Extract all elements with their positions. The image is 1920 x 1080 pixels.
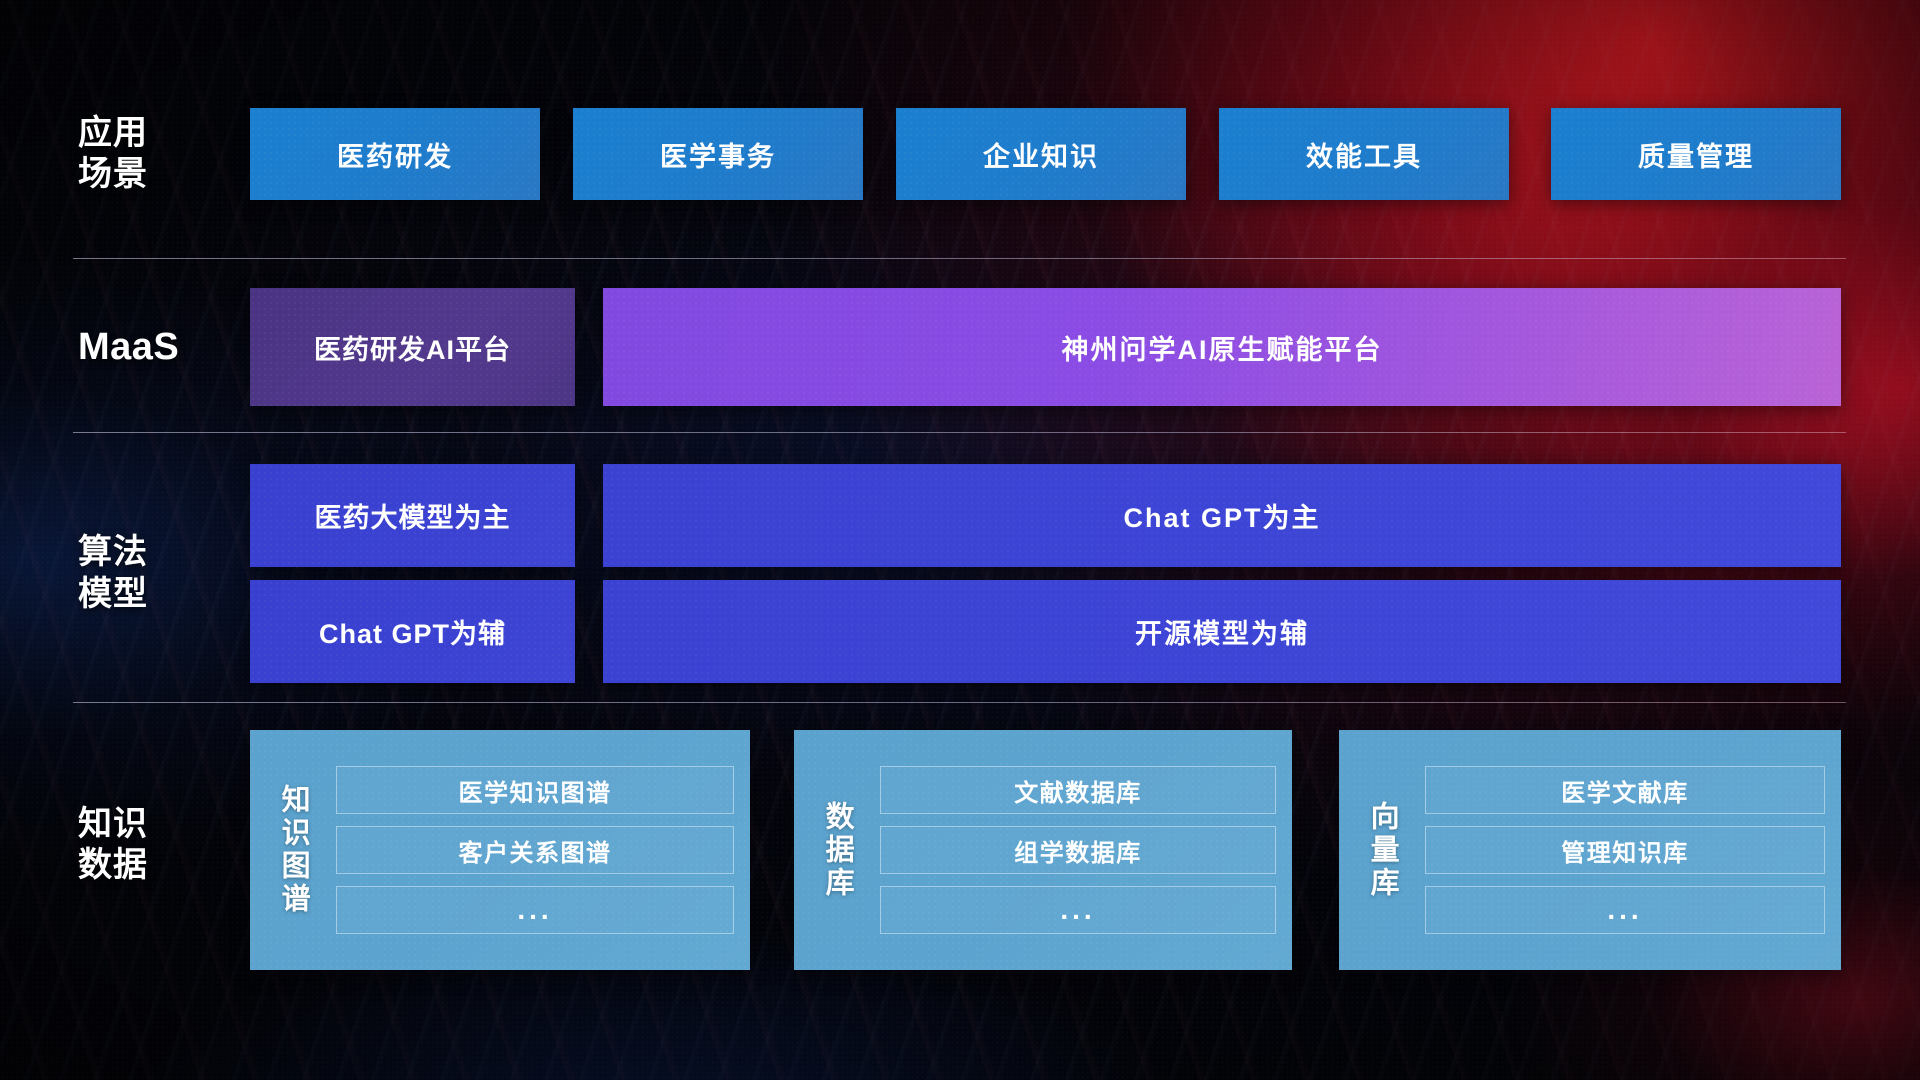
knowledge-group-1-title: 知识图谱 <box>262 784 324 916</box>
knowledge-group-1-item-1[interactable]: 医学知识图谱 <box>336 766 734 814</box>
maas-platform-box-label: 神州问学AI原生赋能平台 <box>1062 328 1383 367</box>
algorithm-row1-left-box[interactable]: 医药大模型为主 <box>250 464 575 567</box>
knowledge-group-2[interactable]: 数据库 文献数据库 组学数据库 ... <box>794 730 1292 970</box>
maas-platform-box[interactable]: 神州问学AI原生赋能平台 <box>603 288 1841 406</box>
app-box-3-label: 企业知识 <box>983 135 1099 174</box>
algorithm-row2-right-label: 开源模型为辅 <box>1135 612 1309 651</box>
row-label-application-line1: 应用 <box>78 113 148 154</box>
row-label-algorithm-line2: 模型 <box>78 574 148 615</box>
row-label-knowledge: 知识 数据 <box>78 780 228 910</box>
algorithm-row2-left-label: Chat GPT为辅 <box>319 612 506 651</box>
app-box-2[interactable]: 医学事务 <box>573 108 863 200</box>
app-box-4[interactable]: 效能工具 <box>1219 108 1509 200</box>
divider-application-maas <box>73 258 1846 259</box>
maas-left-box[interactable]: 医药研发AI平台 <box>250 288 575 406</box>
knowledge-group-2-item-3[interactable]: ... <box>880 886 1276 934</box>
knowledge-group-3-item-2[interactable]: 管理知识库 <box>1425 826 1825 874</box>
knowledge-group-1-item-3[interactable]: ... <box>336 886 734 934</box>
knowledge-group-1-items: 医学知识图谱 客户关系图谱 ... <box>336 766 734 934</box>
architecture-diagram: 应用 场景 医药研发 医学事务 企业知识 效能工具 质量管理 MaaS 医药研发… <box>0 0 1920 1080</box>
knowledge-group-2-item-1[interactable]: 文献数据库 <box>880 766 1276 814</box>
knowledge-group-3-item-3[interactable]: ... <box>1425 886 1825 934</box>
knowledge-group-2-items: 文献数据库 组学数据库 ... <box>880 766 1276 934</box>
row-label-knowledge-line1: 知识 <box>78 804 148 845</box>
app-box-5-label: 质量管理 <box>1638 135 1754 174</box>
knowledge-group-3-title: 向量库 <box>1351 801 1413 900</box>
algorithm-row1-left-label: 医药大模型为主 <box>315 496 511 535</box>
knowledge-group-1[interactable]: 知识图谱 医学知识图谱 客户关系图谱 ... <box>250 730 750 970</box>
app-box-1[interactable]: 医药研发 <box>250 108 540 200</box>
maas-left-box-label: 医药研发AI平台 <box>314 328 511 367</box>
knowledge-group-3-item-1[interactable]: 医学文献库 <box>1425 766 1825 814</box>
algorithm-row2-right-box[interactable]: 开源模型为辅 <box>603 580 1841 683</box>
row-label-application-line2: 场景 <box>78 154 148 195</box>
algorithm-row2-left-box[interactable]: Chat GPT为辅 <box>250 580 575 683</box>
knowledge-group-3[interactable]: 向量库 医学文献库 管理知识库 ... <box>1339 730 1841 970</box>
row-label-knowledge-line2: 数据 <box>78 845 148 886</box>
app-box-2-label: 医学事务 <box>660 135 776 174</box>
row-label-algorithm-line1: 算法 <box>78 532 148 573</box>
app-box-3[interactable]: 企业知识 <box>896 108 1186 200</box>
knowledge-group-2-title: 数据库 <box>806 801 868 900</box>
row-label-algorithm: 算法 模型 <box>78 464 228 683</box>
app-box-1-label: 医药研发 <box>337 135 453 174</box>
row-label-maas-line1: MaaS <box>78 324 179 370</box>
app-box-5[interactable]: 质量管理 <box>1551 108 1841 200</box>
knowledge-group-2-item-2[interactable]: 组学数据库 <box>880 826 1276 874</box>
row-label-application: 应用 场景 <box>78 108 228 200</box>
app-box-4-label: 效能工具 <box>1306 135 1422 174</box>
divider-maas-algorithm <box>73 432 1846 433</box>
algorithm-row1-right-label: Chat GPT为主 <box>1123 496 1320 535</box>
divider-algorithm-knowledge <box>73 702 1846 703</box>
knowledge-group-3-items: 医学文献库 管理知识库 ... <box>1425 766 1825 934</box>
row-label-maas: MaaS <box>78 288 228 406</box>
knowledge-group-1-item-2[interactable]: 客户关系图谱 <box>336 826 734 874</box>
algorithm-row1-right-box[interactable]: Chat GPT为主 <box>603 464 1841 567</box>
